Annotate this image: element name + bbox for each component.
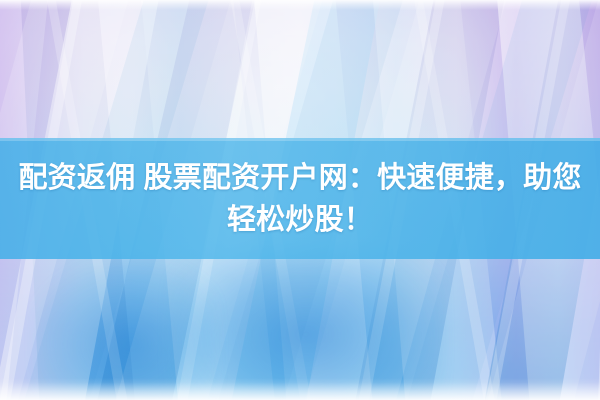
headline-band: 配资返佣 股票配资开户网：快速便捷，助您轻松炒股！ — [0, 138, 600, 259]
bottom-fade-overlay — [0, 378, 600, 400]
banner-image: 配资返佣 股票配资开户网：快速便捷，助您轻松炒股！ — [0, 0, 600, 400]
top-fade-overlay — [0, 0, 600, 10]
banner-headline: 配资返佣 股票配资开户网：快速便捷，助您轻松炒股！ — [6, 157, 594, 241]
